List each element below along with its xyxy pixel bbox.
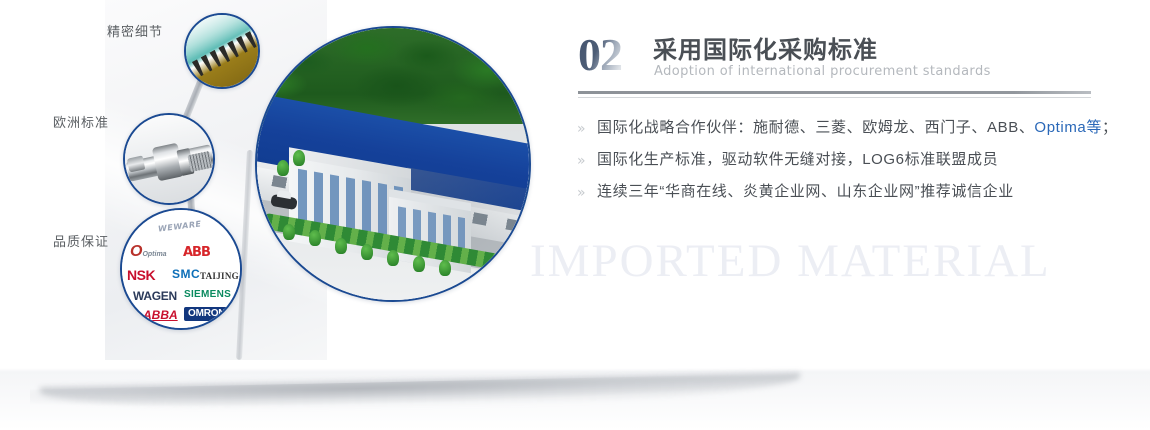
brand-logo-optima: OOptima <box>130 244 167 260</box>
content-column: 02 采用国际化采购标准 Adoption of international p… <box>575 0 1120 430</box>
promo-banner: WEWARE SKF OOptima ABB NSK SMC TAIJING W… <box>0 0 1150 430</box>
list-item: » 国际化战略合作伙伴：施耐德、三菱、欧姆龙、西门子、ABB、Optima等； <box>575 115 1120 147</box>
chevron-bullet-icon: » <box>577 121 586 137</box>
factory-building-photo <box>255 26 531 302</box>
divider-thin <box>578 97 1091 98</box>
label-european-standard: 欧洲标准 <box>53 112 109 131</box>
list-item-text: 国际化生产标准，驱动软件无缝对接，LOG6标准联盟成员 <box>597 148 998 169</box>
list-item-text: 连续三年“华商在线、炎黄企业网、山东企业网”推荐诚信企业 <box>597 180 1014 201</box>
brand-logo-abba: ABBA <box>143 309 178 321</box>
chevron-bullet-icon: » <box>577 185 586 201</box>
list-item: » 连续三年“华商在线、炎黄企业网、山东企业网”推荐诚信企业 <box>575 179 1120 211</box>
section-title-cn: 采用国际化采购标准 <box>653 30 878 65</box>
list-item: » 国际化生产标准，驱动软件无缝对接，LOG6标准联盟成员 <box>575 147 1120 179</box>
ball-screw-shaft-photo <box>123 113 215 205</box>
label-precision-detail: 精密细节 <box>107 21 163 40</box>
brand-logo-siemens: SIEMENS <box>184 290 231 300</box>
brand-logo-nsk: NSK <box>127 268 155 282</box>
section-title-en: Adoption of international procurement st… <box>654 64 991 79</box>
divider-thick <box>578 91 1091 94</box>
chevron-bullet-icon: » <box>577 153 586 169</box>
brand-logos-collage: WEWARE SKF OOptima ABB NSK SMC TAIJING W… <box>120 208 242 330</box>
gear-rack-detail-photo <box>184 13 260 89</box>
label-quality-assurance: 品质保证 <box>53 231 109 250</box>
brand-logo-wagen: WAGEN <box>133 290 177 302</box>
watermark-text: IMPORTED MATERIAL <box>530 234 1051 288</box>
feature-list: » 国际化战略合作伙伴：施耐德、三菱、欧姆龙、西门子、ABB、Optima等； … <box>575 115 1120 211</box>
brand-logo-omron: OMRON <box>184 307 229 321</box>
brand-logo-smc: SMC <box>172 268 200 280</box>
highlight-optima: Optima等 <box>1034 119 1102 136</box>
brand-logo-taijing: TAIJING <box>200 272 239 281</box>
brand-logo-abb: ABB <box>183 246 210 259</box>
section-number: 02 <box>578 28 622 81</box>
list-item-text: 国际化战略合作伙伴：施耐德、三菱、欧姆龙、西门子、ABB、Optima等； <box>597 116 1118 137</box>
